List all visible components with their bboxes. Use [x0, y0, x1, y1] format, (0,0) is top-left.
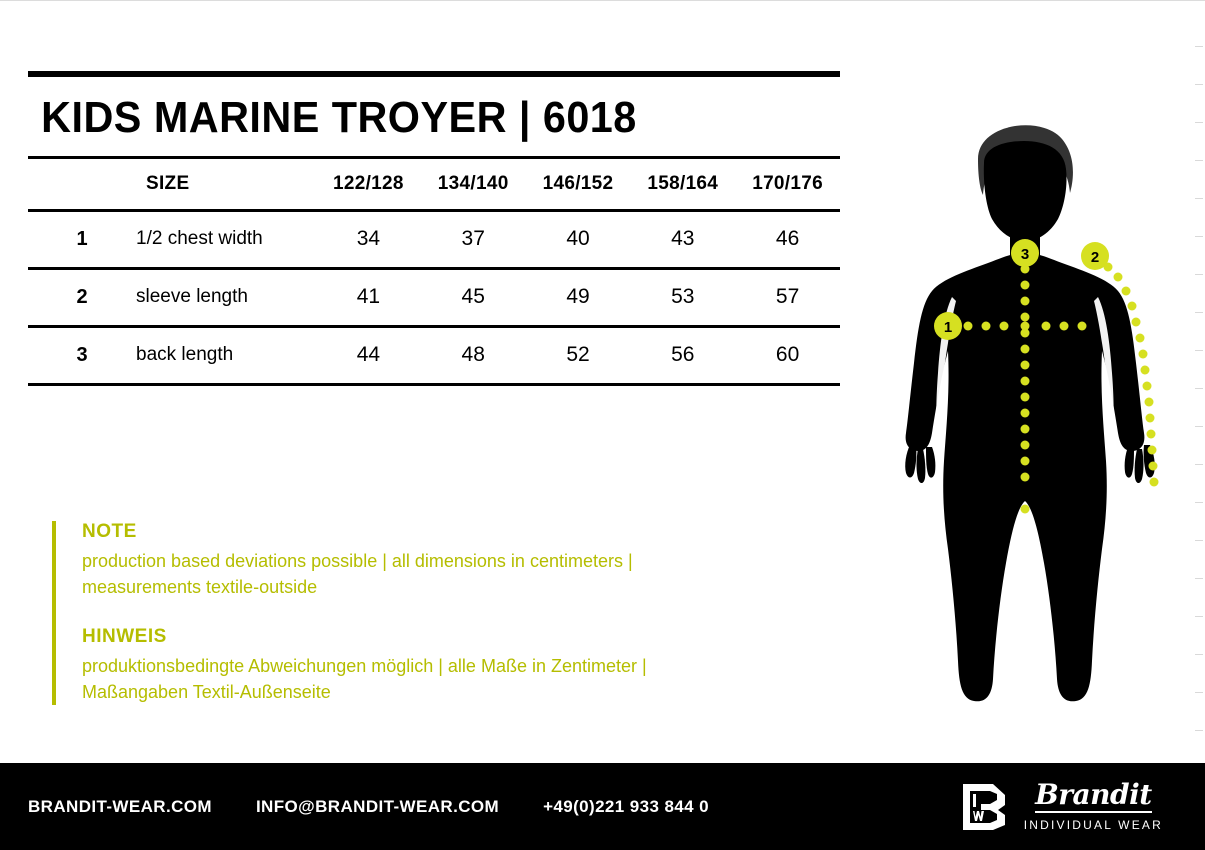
- cell-value: 44: [316, 326, 421, 383]
- header-size-122-128: 122/128: [316, 159, 421, 211]
- body-silhouette: [905, 125, 1155, 701]
- ruler-tick: [1195, 426, 1203, 427]
- ruler-tick: [1195, 616, 1203, 617]
- note-body: produktionsbedingte Abweichungen möglich…: [82, 653, 752, 705]
- cell-value: 43: [630, 210, 735, 268]
- ruler-tick: [1195, 198, 1203, 199]
- table-row: 2 sleeve length 41 45 49 53 57: [28, 268, 840, 326]
- cell-value: 60: [735, 326, 840, 383]
- right-edge-ruler-ticks: [1183, 1, 1205, 764]
- row-label: sleeve length: [136, 268, 316, 326]
- note-body: production based deviations possible | a…: [82, 548, 752, 600]
- bw-monogram-icon: [960, 782, 1008, 832]
- ruler-tick: [1195, 388, 1203, 389]
- ruler-tick: [1195, 540, 1203, 541]
- table-bottom-rule: [28, 383, 840, 386]
- header-spacer: [28, 159, 136, 211]
- measurement-figure: 1 2 3: [900, 101, 1160, 721]
- table-row: 3 back length 44 48 52 56 60: [28, 326, 840, 383]
- footer-website[interactable]: BRANDIT-WEAR.COM: [28, 797, 212, 817]
- svg-text:2: 2: [1091, 249, 1099, 266]
- cell-value: 52: [526, 326, 631, 383]
- ruler-tick: [1195, 692, 1203, 693]
- marker-2-sleeve-length: 2: [1081, 242, 1109, 270]
- brandit-logo: Brandit INDIVIDUAL WEAR: [960, 763, 1163, 850]
- ruler-tick: [1195, 654, 1203, 655]
- brand-name: Brandit: [1035, 781, 1152, 813]
- cell-value: 57: [735, 268, 840, 326]
- row-number: 3: [28, 326, 136, 383]
- table-header-row: SIZE 122/128 134/140 146/152 158/164 170…: [28, 159, 840, 211]
- cell-value: 53: [630, 268, 735, 326]
- marker-3-back-length: 3: [1011, 239, 1039, 267]
- brandit-wordmark: Brandit INDIVIDUAL WEAR: [1024, 781, 1163, 832]
- row-label: back length: [136, 326, 316, 383]
- svg-text:1: 1: [944, 319, 952, 336]
- ruler-tick: [1195, 160, 1203, 161]
- ruler-tick: [1195, 122, 1203, 123]
- header-size-170-176: 170/176: [735, 159, 840, 211]
- ruler-tick: [1195, 236, 1203, 237]
- footer-phone[interactable]: +49(0)221 933 844 0: [543, 797, 709, 817]
- note-block-english: NOTE production based deviations possibl…: [82, 521, 752, 600]
- page-footer: BRANDIT-WEAR.COM INFO@BRANDIT-WEAR.COM +…: [0, 763, 1205, 850]
- ruler-tick: [1195, 350, 1203, 351]
- ruler-tick: [1195, 502, 1203, 503]
- note-block-german: HINWEIS produktionsbedingte Abweichungen…: [82, 626, 752, 705]
- cell-value: 48: [421, 326, 526, 383]
- cell-value: 46: [735, 210, 840, 268]
- row-label: 1/2 chest width: [136, 210, 316, 268]
- chart-content: KIDS MARINE TROYER | 6018 SIZE 122/128 1…: [28, 71, 840, 386]
- ruler-tick: [1195, 84, 1203, 85]
- footer-contact-list: BRANDIT-WEAR.COM INFO@BRANDIT-WEAR.COM +…: [28, 763, 709, 850]
- note-heading: NOTE: [82, 521, 752, 543]
- marker-1-chest-width: 1: [934, 312, 962, 340]
- note-heading: HINWEIS: [82, 626, 752, 648]
- ruler-tick: [1195, 312, 1203, 313]
- cell-value: 49: [526, 268, 631, 326]
- size-chart-page: KIDS MARINE TROYER | 6018 SIZE 122/128 1…: [0, 0, 1205, 850]
- footer-email[interactable]: INFO@BRANDIT-WEAR.COM: [256, 797, 499, 817]
- header-size-158-164: 158/164: [630, 159, 735, 211]
- notes-section: NOTE production based deviations possibl…: [52, 521, 752, 705]
- cell-value: 45: [421, 268, 526, 326]
- cell-value: 34: [316, 210, 421, 268]
- table-row: 1 1/2 chest width 34 37 40 43 46: [28, 210, 840, 268]
- brand-tagline: INDIVIDUAL WEAR: [1024, 818, 1163, 832]
- header-size: SIZE: [136, 159, 316, 211]
- page-title: KIDS MARINE TROYER | 6018: [28, 77, 791, 156]
- size-table: SIZE 122/128 134/140 146/152 158/164 170…: [28, 159, 840, 383]
- cell-value: 56: [630, 326, 735, 383]
- ruler-tick: [1195, 464, 1203, 465]
- header-size-134-140: 134/140: [421, 159, 526, 211]
- ruler-tick: [1195, 730, 1203, 731]
- row-number: 2: [28, 268, 136, 326]
- ruler-tick: [1195, 46, 1203, 47]
- cell-value: 41: [316, 268, 421, 326]
- header-size-146-152: 146/152: [526, 159, 631, 211]
- svg-text:3: 3: [1021, 246, 1029, 263]
- ruler-tick: [1195, 274, 1203, 275]
- cell-value: 40: [526, 210, 631, 268]
- row-number: 1: [28, 210, 136, 268]
- cell-value: 37: [421, 210, 526, 268]
- ruler-tick: [1195, 578, 1203, 579]
